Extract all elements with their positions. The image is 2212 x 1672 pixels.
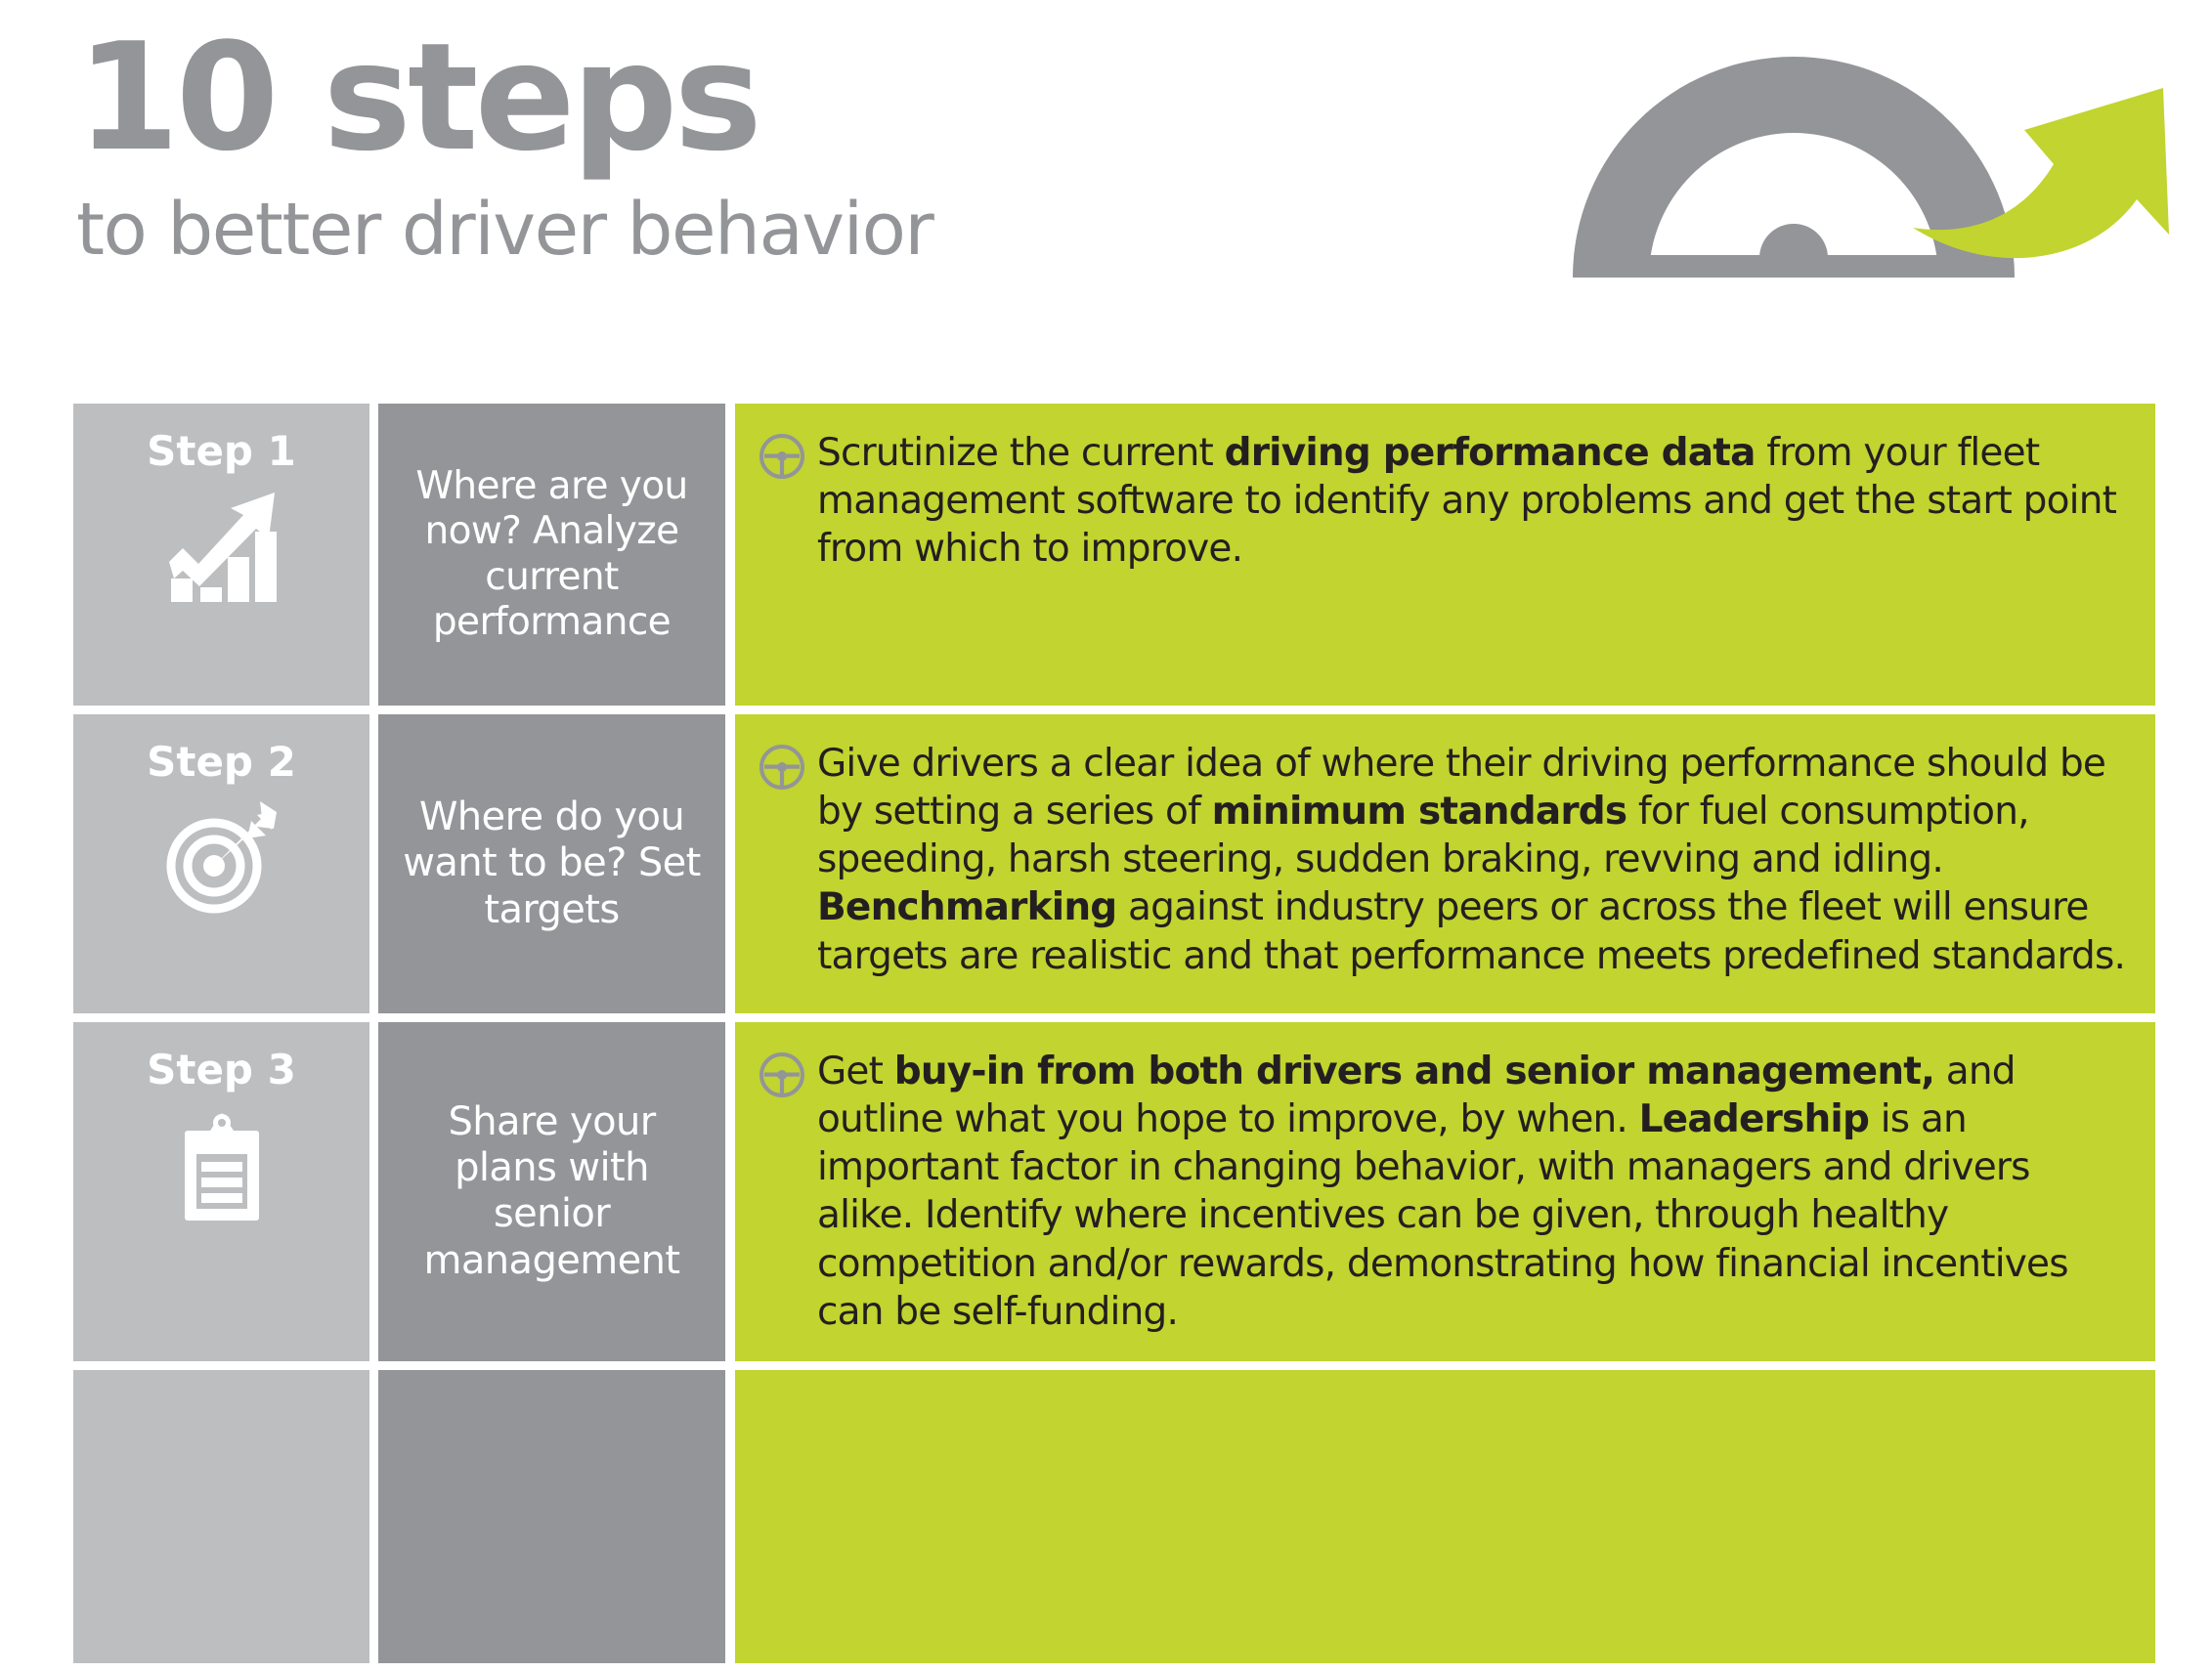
- step-headline-1: Where are you now? Analyze current perfo…: [394, 464, 710, 644]
- step-headline-cell-2: Where do you want to be? Set targets: [378, 714, 725, 1013]
- steering-wheel-bullet-icon: [759, 744, 805, 791]
- step-body-1: Scrutinize the current driving performan…: [817, 429, 2130, 573]
- step-label-1: Step 1: [147, 427, 296, 475]
- table-row: Step 1 Where are you now? Analyze curren…: [0, 404, 2212, 706]
- target-with-arrow-icon: [163, 799, 281, 917]
- step-label-3: Step 3: [147, 1046, 296, 1093]
- page-header: 10 steps to better driver behavior: [0, 0, 2212, 404]
- step-body-cell-2: Give drivers a clear idea of where their…: [735, 714, 2155, 1013]
- table-row: Step 3 Share your plans with senior mana…: [0, 1022, 2212, 1361]
- step-number-cell-2: Step 2: [73, 714, 369, 1013]
- step-number-cell-4: [73, 1370, 369, 1663]
- step-body-cell-3: Get buy-in from both drivers and senior …: [735, 1022, 2155, 1361]
- title-block: 10 steps to better driver behavior: [76, 23, 933, 266]
- step-headline-2: Where do you want to be? Set targets: [394, 794, 710, 933]
- table-row: [0, 1370, 2212, 1663]
- step-body-cell-4: [735, 1370, 2155, 1663]
- step-number-cell-3: Step 3: [73, 1022, 369, 1361]
- step-body-3: Get buy-in from both drivers and senior …: [817, 1048, 2130, 1336]
- step-body-2: Give drivers a clear idea of where their…: [817, 740, 2130, 980]
- step-body-cell-1: Scrutinize the current driving performan…: [735, 404, 2155, 706]
- page-title: 10 steps: [76, 23, 933, 172]
- step-label-2: Step 2: [147, 738, 296, 786]
- bar-chart-growth-icon: [163, 489, 281, 606]
- steering-wheel-bullet-icon: [759, 1051, 805, 1098]
- steering-wheel-bullet-icon: [759, 433, 805, 480]
- step-headline-3: Share your plans with senior management: [394, 1099, 710, 1284]
- table-row: Step 2 Where do you want to be? Set targ…: [0, 714, 2212, 1013]
- steering-wheel-with-upward-arrow-icon: [1565, 18, 2210, 278]
- step-number-cell-1: Step 1: [73, 404, 369, 706]
- steps-table: Step 1 Where are you now? Analyze curren…: [0, 404, 2212, 1672]
- step-headline-cell-3: Share your plans with senior management: [378, 1022, 725, 1361]
- clipboard-icon: [163, 1107, 281, 1224]
- step-headline-cell-1: Where are you now? Analyze current perfo…: [378, 404, 725, 706]
- step-headline-cell-4: [378, 1370, 725, 1663]
- page-subtitle: to better driver behavior: [76, 193, 933, 266]
